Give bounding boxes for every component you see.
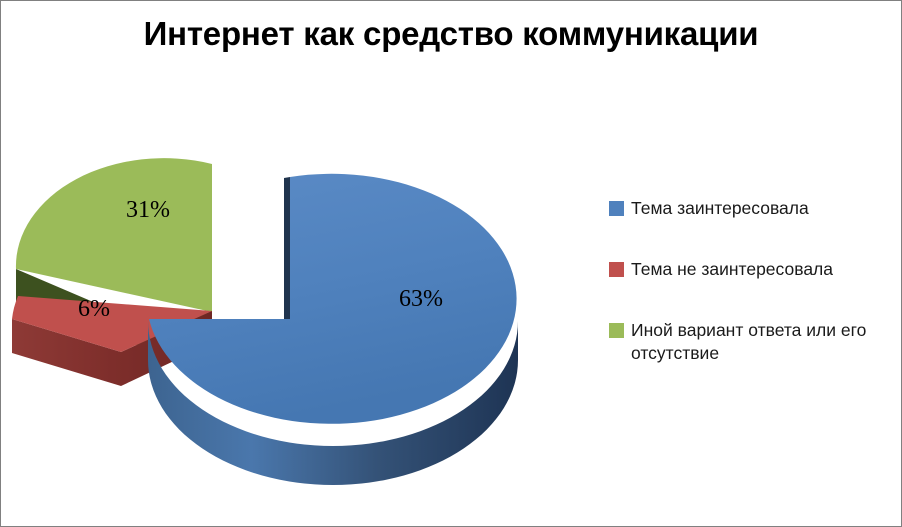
red-slice-label: 6% <box>78 296 110 322</box>
pie-chart-figure: Интернет как средство коммуникации <box>0 0 902 527</box>
legend-item-0[interactable]: Тема заинтересовала <box>609 197 899 220</box>
pie-plot-area: 31% 6% 63% <box>1 1 601 526</box>
legend-swatch-icon <box>609 262 624 277</box>
blue-slice-cut-edge <box>284 177 290 321</box>
legend-item-label: Тема не заинтересовала <box>631 258 833 281</box>
legend-item-label: Тема заинтересовала <box>631 197 809 220</box>
blue-slice-label: 63% <box>399 286 443 312</box>
legend-swatch-icon <box>609 323 624 338</box>
pie-svg: 31% 6% 63% <box>1 1 601 526</box>
legend-item-2[interactable]: Иной вариант ответа или его отсутствие <box>609 319 899 365</box>
legend-item-label: Иной вариант ответа или его отсутствие <box>631 319 889 365</box>
green-slice-label: 31% <box>126 197 170 223</box>
legend-swatch-icon <box>609 201 624 216</box>
chart-legend: Тема заинтересовала Тема не заинтересова… <box>609 197 899 403</box>
legend-item-1[interactable]: Тема не заинтересовала <box>609 258 899 281</box>
